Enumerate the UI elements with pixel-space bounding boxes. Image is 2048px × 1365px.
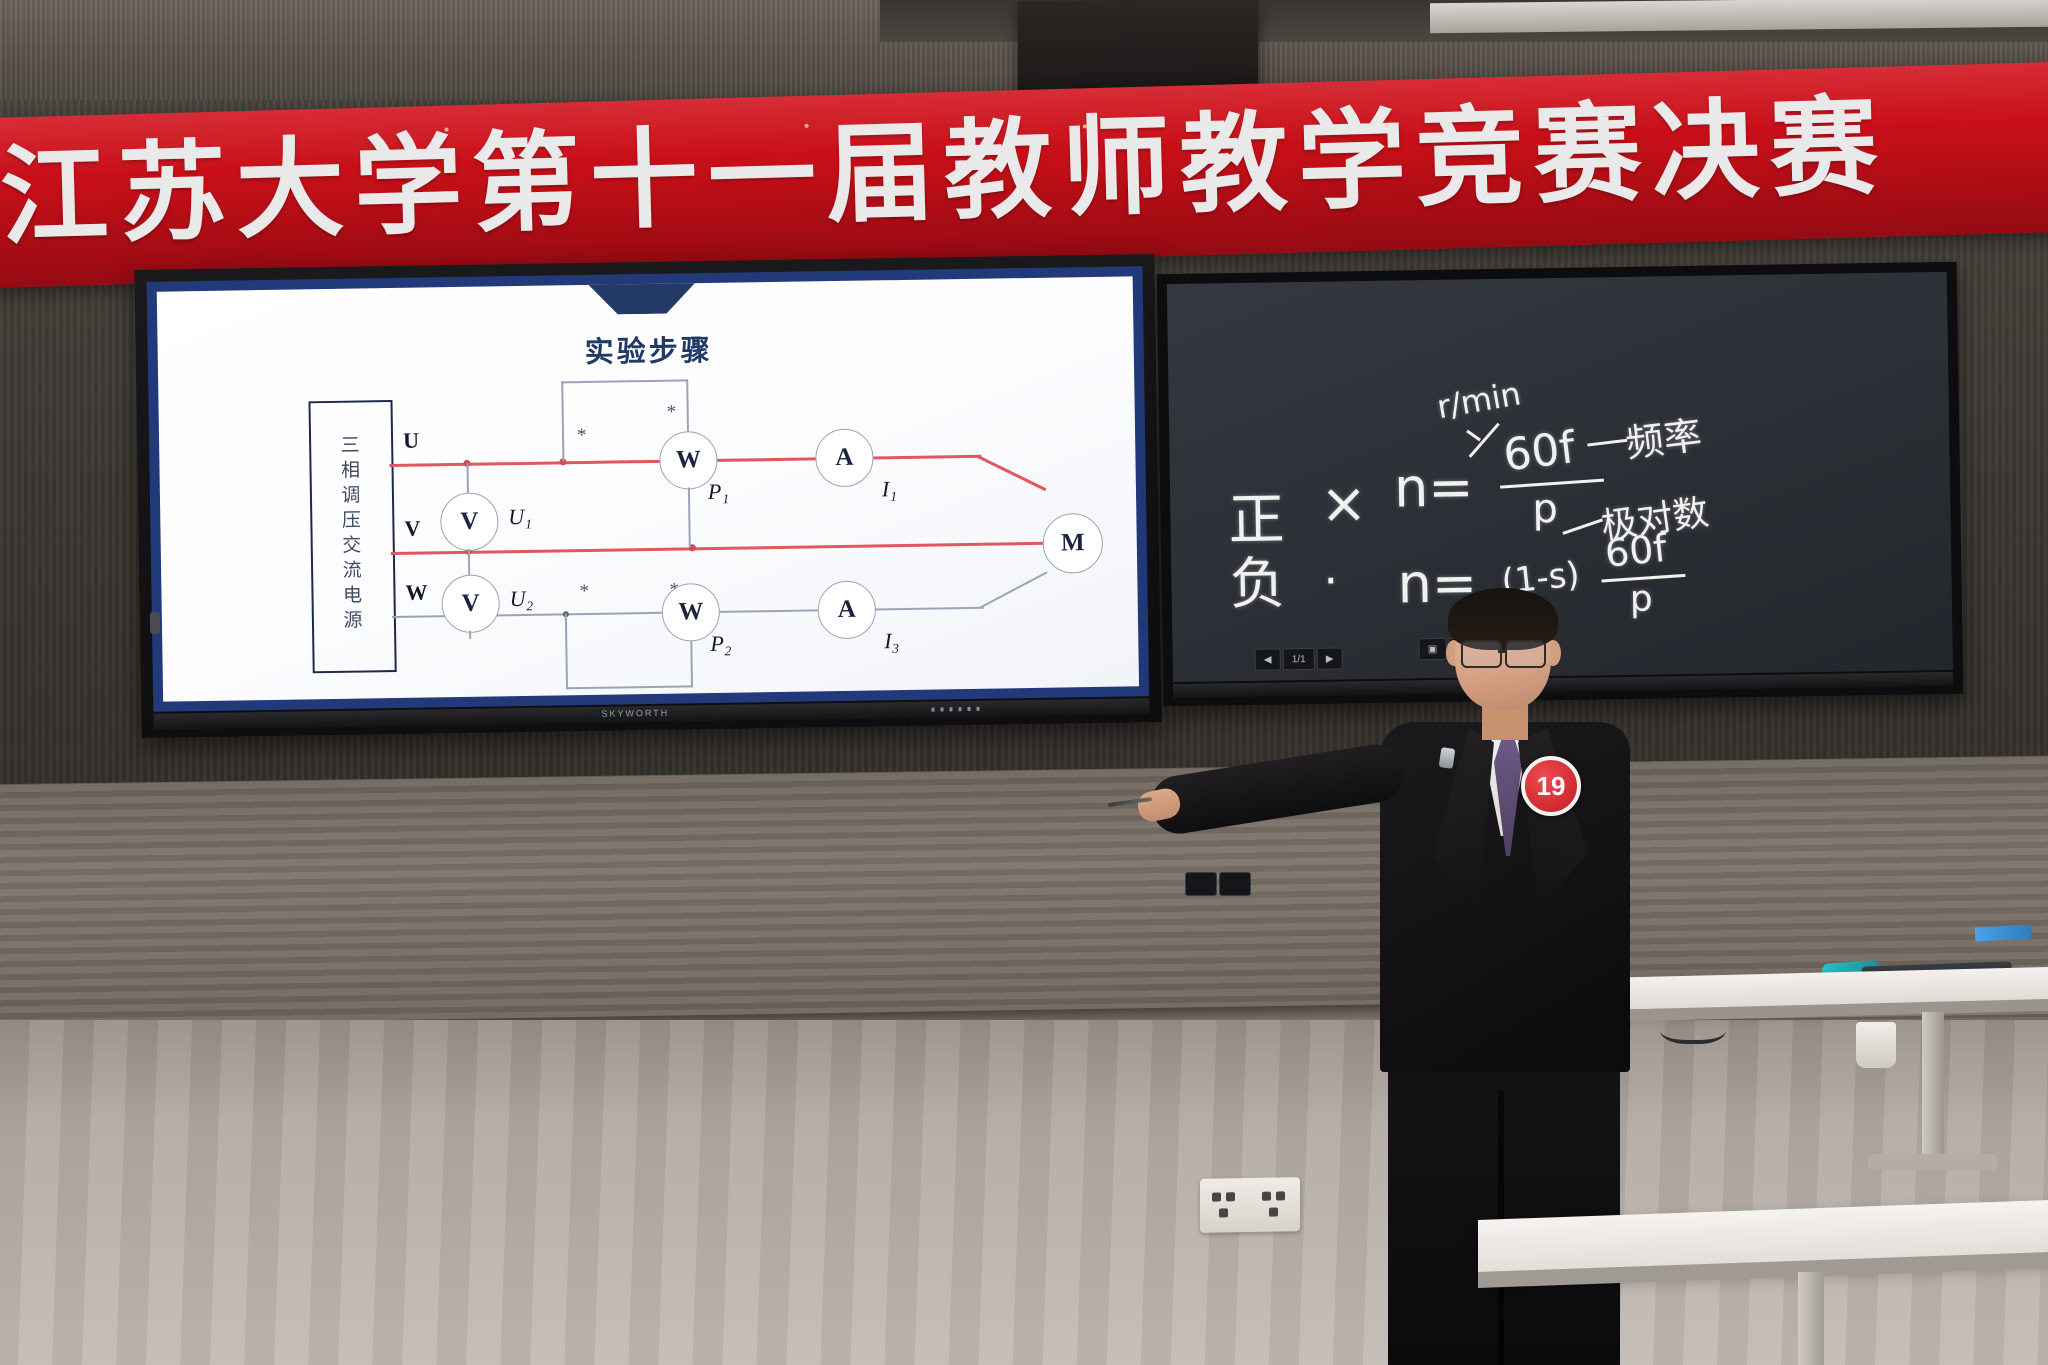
wire-w1-sense-right bbox=[686, 379, 688, 431]
board-control-next[interactable]: ▶ bbox=[1317, 647, 1343, 669]
wire-to-motor-mid bbox=[983, 542, 1045, 546]
polarity-star: * bbox=[579, 581, 589, 603]
wall-console-button-b[interactable] bbox=[1219, 872, 1251, 896]
blackboard[interactable]: 正 × 负 · r/min n= 60f p 频率 极对数 n= (1-s) 6… bbox=[1157, 262, 1964, 707]
board-control-prev[interactable]: ◀ bbox=[1255, 648, 1281, 670]
chalk-formula1-denominator: p bbox=[1532, 486, 1558, 532]
voltage-label-u2: U₂ bbox=[509, 586, 533, 612]
chalk-unit-rmin: r/min bbox=[1434, 374, 1524, 426]
wire-phase-u-2 bbox=[715, 457, 815, 462]
display-ir-sensor-icon bbox=[931, 707, 983, 712]
eyeglasses-right-lens-icon bbox=[1505, 640, 1546, 668]
chalk-arrow-to-polepairs-icon bbox=[1562, 518, 1603, 534]
socket-hole-icon bbox=[1212, 1193, 1221, 1202]
blackboard-surface[interactable]: 正 × 负 · r/min n= 60f p 频率 极对数 n= (1-s) 6… bbox=[1167, 272, 1953, 682]
slide-title: 实验步骤 bbox=[533, 326, 764, 372]
chalk-formula2-numerator: 60f bbox=[1603, 526, 1669, 576]
chalk-formula2-denominator: p bbox=[1629, 579, 1653, 620]
wire-vm1-top bbox=[466, 463, 468, 493]
presenter-legs bbox=[1388, 1060, 1620, 1365]
wire-w2-sense-bot bbox=[566, 685, 692, 689]
blue-marker bbox=[1975, 925, 2032, 942]
motor-symbol: M bbox=[1042, 513, 1103, 574]
wire-vm2-top bbox=[468, 553, 470, 575]
display-brand-logo: SKYWORTH bbox=[601, 708, 669, 719]
polarity-star: * bbox=[577, 425, 587, 447]
voltmeter-1: V bbox=[440, 492, 499, 551]
current-label-i3: I₃ bbox=[884, 628, 899, 654]
lapel-microphone-icon bbox=[1439, 747, 1456, 769]
current-label-i1: I₁ bbox=[882, 476, 897, 502]
wire-to-motor-top bbox=[977, 455, 1047, 491]
eyeglasses-left-lens-icon bbox=[1461, 640, 1502, 668]
chalk-arrow-head-icon bbox=[1466, 430, 1481, 441]
wire-w2-sense-right bbox=[690, 639, 692, 687]
wire-to-motor-bot bbox=[979, 571, 1047, 608]
ammeter-1: A bbox=[815, 428, 874, 487]
polarity-star: * bbox=[667, 402, 677, 424]
desk-cable bbox=[1660, 1010, 1726, 1044]
banner-pin bbox=[1083, 124, 1087, 128]
wire-w1-bottom bbox=[688, 487, 691, 547]
contestant-badge: 19 bbox=[1521, 756, 1581, 816]
chalk-note-frequency: 频率 bbox=[1622, 404, 1704, 468]
voltage-label-u1: U₁ bbox=[508, 504, 532, 530]
phase-label-v: V bbox=[404, 516, 420, 542]
banner-pin bbox=[445, 128, 449, 132]
socket-hole-icon bbox=[1219, 1208, 1228, 1217]
display-side-button[interactable] bbox=[150, 612, 160, 634]
board-control-page[interactable]: 1/1 bbox=[1283, 648, 1315, 670]
wall-socket-panel[interactable] bbox=[1200, 1177, 1300, 1233]
socket-hole-icon bbox=[1262, 1192, 1271, 1201]
slide-canvas: 实验步骤 三相调压交流电源 U V W bbox=[157, 276, 1139, 701]
right-desk-leg bbox=[1922, 1012, 1944, 1162]
slide-title-tab bbox=[587, 281, 697, 315]
wire-phase-w bbox=[392, 612, 662, 618]
wire-phase-w-2 bbox=[718, 609, 818, 612]
chalk-arrow-to-frequency-icon bbox=[1587, 439, 1627, 446]
chalk-formula1-numerator: 60f bbox=[1501, 422, 1578, 481]
power-label-p2: P₂ bbox=[710, 631, 731, 657]
chalk-mark-cross: × bbox=[1320, 471, 1368, 537]
wire-vm2-bot bbox=[469, 631, 471, 639]
right-desk-base bbox=[1868, 1154, 1998, 1170]
floor-texture bbox=[0, 1020, 2048, 1365]
lecture-hall-photo: 江苏大学第十一届教师教学竞赛决赛 实验步骤 三相调压交流电源 U V W bbox=[0, 0, 2048, 1365]
phase-label-u: U bbox=[403, 428, 419, 454]
wire-w2-sense-left bbox=[565, 613, 568, 689]
eyeglasses-bridge-icon bbox=[1498, 650, 1505, 653]
display-screen[interactable]: 实验步骤 三相调压交流电源 U V W bbox=[157, 276, 1139, 701]
board-control-grid[interactable]: ▣ bbox=[1418, 638, 1446, 660]
wire-w1-sense-top bbox=[561, 379, 687, 383]
banner-pin bbox=[1385, 124, 1389, 128]
display-bezel: 实验步骤 三相调压交流电源 U V W bbox=[147, 266, 1150, 712]
voltmeter-2: V bbox=[441, 574, 500, 633]
phase-label-w: W bbox=[405, 579, 427, 605]
chalk-formula1-lhs: n= bbox=[1394, 455, 1474, 519]
chalk-mark-dot: · bbox=[1323, 554, 1338, 608]
chalk-label-negative: 负 bbox=[1229, 538, 1286, 620]
wall-console-button-a[interactable] bbox=[1185, 872, 1217, 896]
socket-hole-icon bbox=[1226, 1192, 1235, 1201]
banner-pin bbox=[805, 124, 809, 128]
wire-w1-sense-left bbox=[561, 381, 564, 461]
power-source-label: 三相调压交流电源 bbox=[308, 400, 392, 669]
wire-phase-u bbox=[389, 460, 659, 467]
ammeter-2: A bbox=[817, 580, 876, 639]
paper-cup bbox=[1856, 1022, 1896, 1068]
power-label-p1: P₁ bbox=[708, 479, 729, 505]
wire-phase-w-3 bbox=[874, 607, 984, 610]
chalk-arrow-icon bbox=[1469, 423, 1500, 458]
presentation-display[interactable]: 实验步骤 三相调压交流电源 U V W bbox=[134, 254, 1161, 738]
socket-hole-icon bbox=[1276, 1191, 1285, 1200]
socket-hole-icon bbox=[1269, 1208, 1278, 1217]
front-desk-leg bbox=[1798, 1272, 1824, 1365]
wire-phase-u-3 bbox=[871, 455, 981, 460]
